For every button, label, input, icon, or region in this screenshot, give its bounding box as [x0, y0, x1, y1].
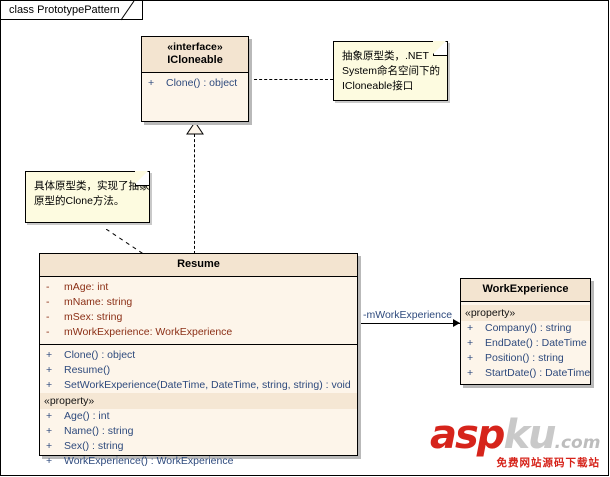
association-label: -mWorkExperience — [363, 309, 452, 321]
visibility-marker: - — [46, 280, 64, 295]
property-row[interactable]: +Age() : int — [40, 409, 357, 424]
diagram-frame-title: class PrototypePattern — [9, 4, 120, 16]
visibility-marker: + — [46, 409, 64, 424]
property-row[interactable]: +Name() : string — [40, 424, 357, 439]
property-row[interactable]: +WorkExperience() : WorkExperience — [40, 454, 357, 469]
property-label: EndDate() : DateTime — [485, 337, 587, 349]
class-box-resume[interactable]: Resume -mAge: int -mName: string -mSex: … — [39, 253, 358, 456]
visibility-marker: - — [46, 310, 64, 325]
operation-row[interactable]: +Resume() — [40, 363, 357, 378]
attribute-row[interactable]: -mSex: string — [40, 310, 357, 325]
property-row[interactable]: +Position() : string — [461, 351, 590, 366]
visibility-marker: + — [467, 321, 485, 336]
note-line: 具体原型类，实现了抽象 — [34, 179, 143, 194]
interface-note-anchor — [249, 79, 333, 80]
resume-attributes: -mAge: int -mName: string -mSex: string … — [40, 277, 357, 345]
property-row[interactable]: +EndDate() : DateTime — [461, 336, 590, 351]
visibility-marker: + — [46, 424, 64, 439]
watermark-subtitle: 免费网站源码下载站 — [430, 455, 600, 470]
class-box-workexperience[interactable]: WorkExperience «property» +Company() : s… — [460, 278, 591, 385]
association-line — [358, 323, 460, 324]
note-fold-corner — [135, 172, 149, 186]
watermark-aspku: aspku.com 免费网站源码下载站 — [430, 415, 600, 471]
note-concrete-prototype[interactable]: 具体原型类，实现了抽象 原型的Clone方法。 — [25, 171, 150, 223]
visibility-marker: + — [148, 76, 166, 91]
resume-property-band: «property» — [40, 393, 357, 409]
attribute-row[interactable]: -mName: string — [40, 295, 357, 310]
property-row[interactable]: +Company() : string — [461, 321, 590, 336]
property-label: Company() : string — [485, 322, 571, 334]
diagram-frame-tab-slant — [121, 1, 143, 21]
visibility-marker: + — [46, 348, 64, 363]
visibility-marker: + — [46, 439, 64, 454]
watermark-asp: asp — [430, 412, 503, 458]
realization-arrowhead — [186, 121, 204, 140]
property-label: StartDate() : DateTime — [485, 367, 590, 379]
property-row[interactable]: +Sex() : string — [40, 439, 357, 454]
resume-header: Resume — [40, 254, 357, 277]
attribute-label: mName: string — [64, 296, 132, 308]
watermark-logo: aspku.com — [430, 415, 600, 463]
operation-row[interactable]: +SetWorkExperience(DateTime, DateTime, s… — [40, 378, 357, 393]
visibility-marker: - — [46, 295, 64, 310]
frame-tab-slant-shape — [121, 1, 143, 21]
workexperience-header: WorkExperience — [461, 279, 590, 302]
property-label: Name() : string — [64, 425, 133, 437]
visibility-marker: + — [467, 351, 485, 366]
resume-operations: +Clone() : object +Resume() +SetWorkExpe… — [40, 345, 357, 473]
visibility-marker: + — [467, 366, 485, 381]
attribute-label: mWorkExperience: WorkExperience — [64, 326, 232, 338]
note-line: ICloneable接口 — [342, 79, 441, 94]
icloneable-name: ICloneable — [167, 54, 223, 66]
workexperience-property-band: «property» — [461, 305, 590, 321]
operation-label: Clone() : object — [166, 77, 237, 89]
attribute-row[interactable]: -mWorkExperience: WorkExperience — [40, 325, 357, 340]
watermark-ku: ku — [503, 412, 554, 458]
class-box-icloneable[interactable]: «interface» ICloneable +Clone() : object — [141, 36, 249, 122]
property-row[interactable]: +StartDate() : DateTime — [461, 366, 590, 381]
visibility-marker: + — [467, 336, 485, 351]
property-label: Age() : int — [64, 410, 110, 422]
operation-label: Resume() — [64, 364, 110, 376]
watermark-com: .com — [555, 433, 601, 453]
icloneable-header: «interface» ICloneable — [142, 37, 248, 73]
realization-dashed-line — [194, 134, 195, 254]
icloneable-stereotype: «interface» — [144, 41, 246, 54]
hollow-triangle-icon — [186, 121, 204, 135]
note-line: 抽象原型类，.NET — [342, 49, 441, 64]
association-arrowhead — [453, 319, 460, 327]
workexperience-properties: «property» +Company() : string +EndDate(… — [461, 302, 590, 385]
note-line: 原型的Clone方法。 — [34, 194, 143, 209]
attribute-label: mSex: string — [64, 311, 122, 323]
operation-row[interactable]: +Clone() : object — [142, 76, 248, 91]
property-label: WorkExperience() : WorkExperience — [64, 455, 233, 467]
resume-name: Resume — [177, 258, 220, 270]
operation-label: Clone() : object — [64, 349, 135, 361]
attribute-row[interactable]: -mAge: int — [40, 280, 357, 295]
diagram-frame: class PrototypePattern -mWorkExperience … — [0, 0, 609, 476]
visibility-marker: + — [46, 378, 64, 393]
icloneable-operations: +Clone() : object — [142, 73, 248, 95]
workexperience-name: WorkExperience — [482, 283, 568, 295]
property-label: Sex() : string — [64, 440, 124, 452]
note-line: System命名空间下的 — [342, 64, 441, 79]
visibility-marker: + — [46, 363, 64, 378]
note-fold-corner — [433, 42, 447, 56]
attribute-label: mAge: int — [64, 281, 108, 293]
visibility-marker: + — [46, 454, 64, 469]
visibility-marker: - — [46, 325, 64, 340]
property-label: Position() : string — [485, 352, 564, 364]
operation-row[interactable]: +Clone() : object — [40, 348, 357, 363]
note-abstract-prototype[interactable]: 抽象原型类，.NET System命名空间下的 ICloneable接口 — [333, 41, 448, 101]
operation-label: SetWorkExperience(DateTime, DateTime, st… — [64, 379, 351, 391]
